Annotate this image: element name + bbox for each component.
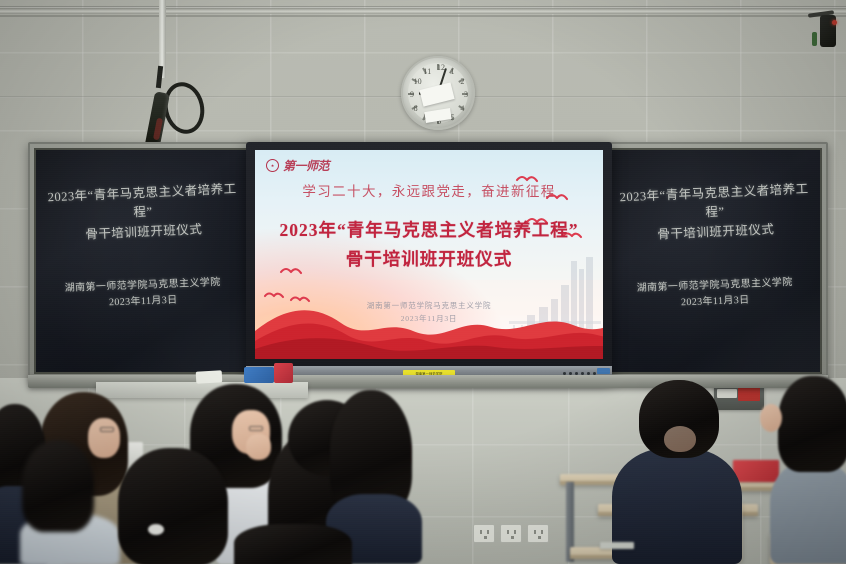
clock-numeral: 8	[414, 104, 418, 113]
wall-clock: 121234567891011	[401, 56, 475, 130]
ledge-blue-box	[244, 367, 274, 383]
slide-title-line2: 骨干培训班开班仪式	[255, 245, 603, 274]
clock-numeral: 9	[410, 90, 414, 99]
ceiling-rail	[0, 8, 846, 14]
blackboard-left-title: 2023年“青年马克思主义者培养工程” 骨干培训班开班仪式	[35, 179, 251, 247]
slide-organizer: 湖南第一师范学院马克思主义学院 2023年11月3日	[255, 300, 603, 326]
ceiling-line	[0, 15, 846, 17]
clock-numeral: 3	[464, 90, 468, 99]
clock-numeral: 10	[414, 77, 422, 86]
clock-numeral: 1	[451, 67, 455, 76]
classroom-photo: 121234567891011 2023年“青年马克思主义者培养工程” 骨干培训…	[0, 0, 846, 564]
desk-paper	[600, 542, 634, 549]
clock-numeral: 11	[424, 67, 432, 76]
projection-screen-housing[interactable]: ★ 第一师范 学习二十大，永远跟党走，奋进新征程	[246, 142, 612, 380]
ceiling-speaker-icon	[806, 10, 840, 52]
clock-numeral: 2	[460, 77, 464, 86]
slide-title: 2023年“青年马克思主义者培养工程” 骨干培训班开班仪式	[255, 216, 603, 274]
ledge-white-item	[196, 370, 223, 383]
slide-subtitle: 学习二十大，永远跟党走，奋进新征程	[255, 180, 603, 200]
blackboard-right-title: 2023年“青年马克思主义者培养工程” 骨干培训班开班仪式	[609, 179, 821, 247]
supply-ledge	[96, 382, 308, 398]
bezel-brand-label	[597, 368, 610, 374]
blackboard-left: 2023年“青年马克思主义者培养工程” 骨干培训班开班仪式 湖南第一师范学院马克…	[34, 148, 252, 374]
red-notice-card-1	[733, 460, 779, 482]
blackboard-left-org: 湖南第一师范学院马克思主义学院 2023年11月3日	[35, 274, 250, 314]
clock-numeral: 4	[460, 104, 464, 113]
slide-org-date: 2023年11月3日	[255, 313, 603, 326]
slide-org-line1: 湖南第一师范学院马克思主义学院	[255, 300, 603, 313]
projection-screen[interactable]: ★ 第一师范 学习二十大，永远跟党走，奋进新征程	[255, 150, 603, 359]
board-assembly: 2023年“青年马克思主义者培养工程” 骨干培训班开班仪式 湖南第一师范学院马克…	[28, 142, 828, 382]
slide-title-line1: 2023年“青年马克思主义者培养工程”	[255, 216, 603, 245]
blackboard-right-org: 湖南第一师范学院马克思主义学院 2023年11月3日	[609, 274, 820, 314]
audience-area	[0, 382, 846, 564]
ledge-red-box	[274, 363, 293, 383]
blackboard-right: 2023年“青年马克思主义者培养工程” 骨干培训班开班仪式 湖南第一师范学院马克…	[608, 148, 822, 374]
